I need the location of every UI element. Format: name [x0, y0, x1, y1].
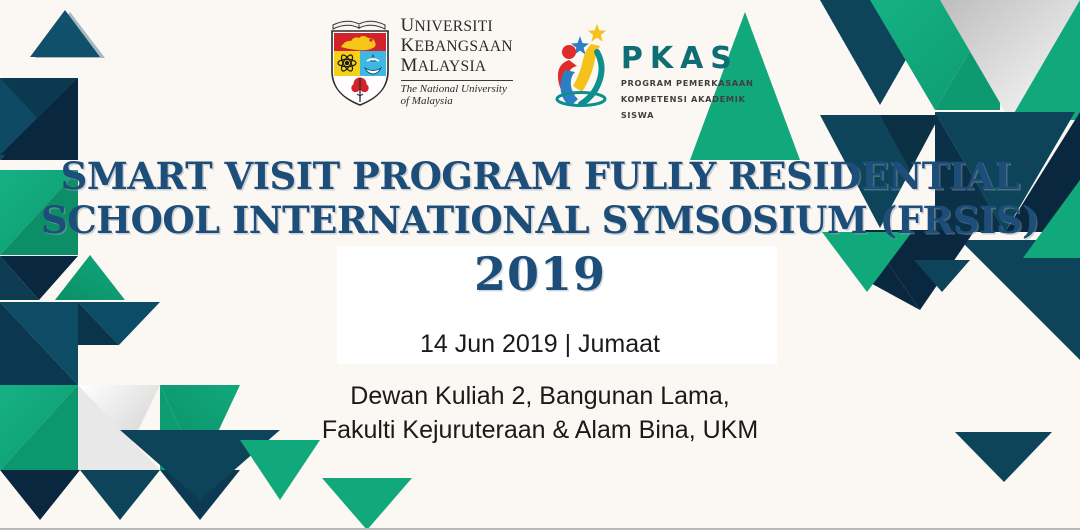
pkas-logo: PKAS Program Pemerkasaan Kompetensi Akad… [547, 22, 754, 122]
event-date: 14 Jun 2019 | Jumaat [0, 330, 1080, 359]
ukm-logo: UNIVERSITI KEBANGSAAN MALAYSIA The Natio… [327, 16, 513, 108]
ukm-line-2: KEBANGSAAN [401, 36, 513, 56]
pkas-subtitle-3: Siswa [621, 110, 754, 122]
pkas-wordmark: PKAS Program Pemerkasaan Kompetensi Akad… [621, 44, 754, 122]
event-poster: UNIVERSITI KEBANGSAAN MALAYSIA The Natio… [0, 0, 1080, 530]
pkas-subtitle-1: Program Pemerkasaan [621, 78, 754, 90]
event-title-line-1: SMART VISIT PROGRAM FULLY RESIDENTIAL [0, 158, 1080, 195]
ukm-crest-icon [327, 16, 393, 108]
ukm-line-1: UNIVERSITI [401, 16, 513, 36]
ukm-divider [401, 80, 513, 81]
ukm-tagline-2: of Malaysia [401, 95, 513, 108]
pkas-figure-icon [547, 22, 617, 108]
pkas-title: PKAS [621, 44, 754, 74]
event-venue-line-2: Fakulti Kejuruteraan & Alam Bina, UKM [0, 414, 1080, 448]
ukm-line-3: MALAYSIA [401, 56, 513, 76]
pkas-subtitle-2: Kompetensi Akademik [621, 94, 754, 106]
event-title-line-2: SCHOOL INTERNATIONAL SYMSOSIUM (FRSIS) [0, 202, 1080, 239]
logo-row: UNIVERSITI KEBANGSAAN MALAYSIA The Natio… [0, 16, 1080, 122]
event-title: SMART VISIT PROGRAM FULLY RESIDENTIAL SC… [0, 158, 1080, 297]
ukm-wordmark: UNIVERSITI KEBANGSAAN MALAYSIA The Natio… [401, 16, 513, 108]
event-venue: Dewan Kuliah 2, Bangunan Lama, Fakulti K… [0, 380, 1080, 448]
event-year: 2019 [0, 251, 1080, 297]
ukm-tagline-1: The National University [401, 83, 513, 96]
event-venue-line-1: Dewan Kuliah 2, Bangunan Lama, [0, 380, 1080, 414]
